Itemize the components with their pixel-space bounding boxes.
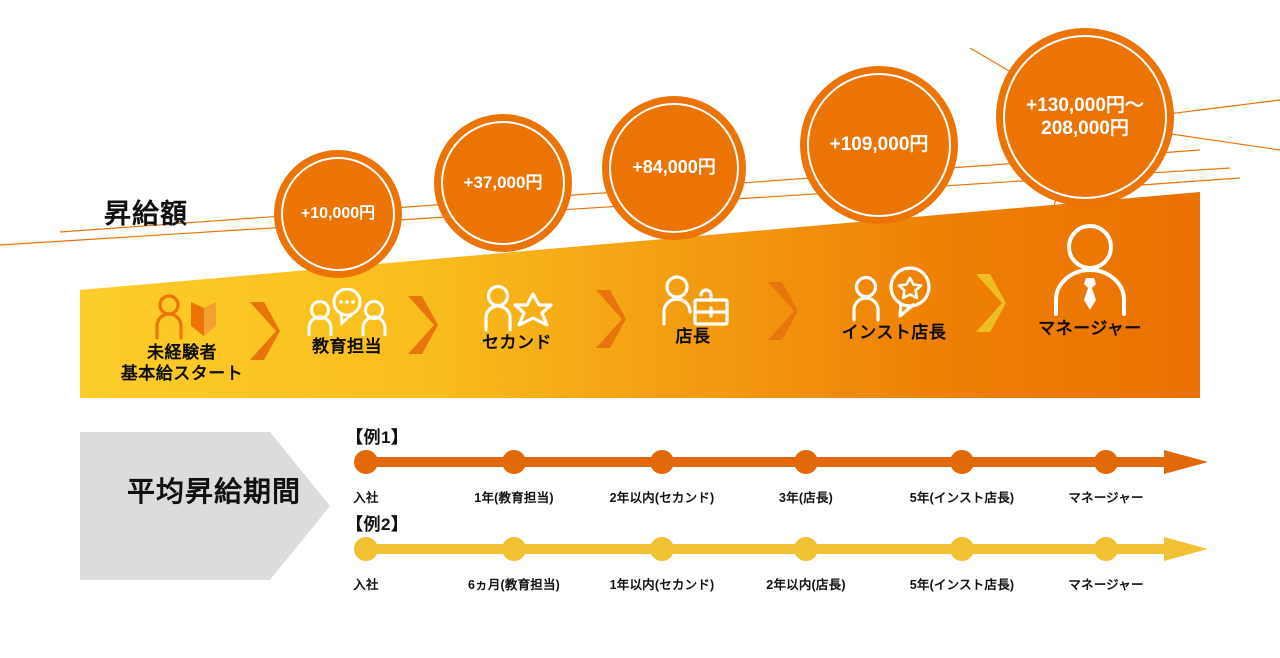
timeline-example-1-tick-3: 2年以内(セカンド) xyxy=(610,487,715,506)
person-briefcase-icon xyxy=(655,274,731,326)
infographic-canvas: 昇給額 +10,000円 +37,000円 +84,000円 +109,000円… xyxy=(0,0,1280,658)
person-book-icon xyxy=(146,292,218,342)
raise-bubble-3-value: +84,000円 xyxy=(632,157,716,179)
timeline-example-1-tick-4: 3年(店長) xyxy=(779,487,833,506)
average-period-label: 平均昇給期間 xyxy=(104,470,324,510)
raise-bubble-4: +109,000円 xyxy=(800,66,958,224)
raise-bubble-2: +37,000円 xyxy=(434,114,572,252)
career-role-5: インスト店長 xyxy=(814,266,974,343)
chevron-right-icon-5 xyxy=(972,272,1008,334)
timeline-example-1-tick-5: 5年(インスト店長) xyxy=(910,487,1015,506)
person-star-icon xyxy=(478,282,556,332)
timeline-example-2-tick-4: 2年以内(店長) xyxy=(766,574,845,593)
career-role-6: マネージャー xyxy=(1010,222,1170,339)
raise-bubble-5: +130,000円〜 208,000円 xyxy=(996,28,1174,206)
raise-bubble-4-value: +109,000円 xyxy=(830,133,929,156)
chevron-right-icon-3 xyxy=(592,288,628,350)
career-role-4-label: 店長 xyxy=(676,326,711,347)
career-role-2-label: 教育担当 xyxy=(312,336,382,357)
timeline-example-2-tick-5: 5年(インスト店長) xyxy=(910,574,1015,593)
raise-bubble-3: +84,000円 xyxy=(602,96,746,240)
raise-bubble-2-value: +37,000円 xyxy=(464,173,543,194)
raise-bubble-5-value: +130,000円〜 208,000円 xyxy=(1026,94,1144,140)
career-role-6-label: マネージャー xyxy=(1038,318,1142,339)
people-speech-icon xyxy=(304,288,390,336)
chevron-right-icon-4 xyxy=(764,280,800,342)
timeline-example-2-tick-2: 6ヵ月(教育担当) xyxy=(468,574,560,593)
raise-bubble-1: +10,000円 xyxy=(274,150,402,278)
career-role-3-label: セカンド xyxy=(482,332,552,353)
career-role-1-label: 未経験者 基本給スタート xyxy=(121,342,244,385)
timeline-example-2-title: 【例2】 xyxy=(346,510,408,535)
career-role-5-label: インスト店長 xyxy=(842,322,947,343)
timeline-example-2-tick-1: 入社 xyxy=(353,574,378,593)
career-role-1: 未経験者 基本給スタート xyxy=(102,292,262,385)
timeline-example-1-tick-2: 1年(教育担当) xyxy=(474,487,553,506)
timeline-example-2-axis xyxy=(352,535,1210,563)
career-role-2: 教育担当 xyxy=(282,288,412,357)
timeline-example-1-tick-1: 入社 xyxy=(353,487,378,506)
career-role-3: セカンド xyxy=(452,282,582,353)
timeline-example-1-axis xyxy=(352,448,1210,476)
career-role-4: 店長 xyxy=(628,274,758,347)
person-star-bubble-icon xyxy=(846,266,942,322)
timeline-example-1-title: 【例1】 xyxy=(346,423,408,448)
person-necktie-icon xyxy=(1048,222,1132,318)
timeline-example-1-tick-6: マネージャー xyxy=(1068,487,1143,506)
page-title-raise-amount: 昇給額 xyxy=(104,192,188,231)
timeline-example-2-tick-6: マネージャー xyxy=(1068,574,1143,593)
timeline-example-2-tick-3: 1年以内(セカンド) xyxy=(610,574,715,593)
raise-bubble-1-value: +10,000円 xyxy=(301,204,375,224)
